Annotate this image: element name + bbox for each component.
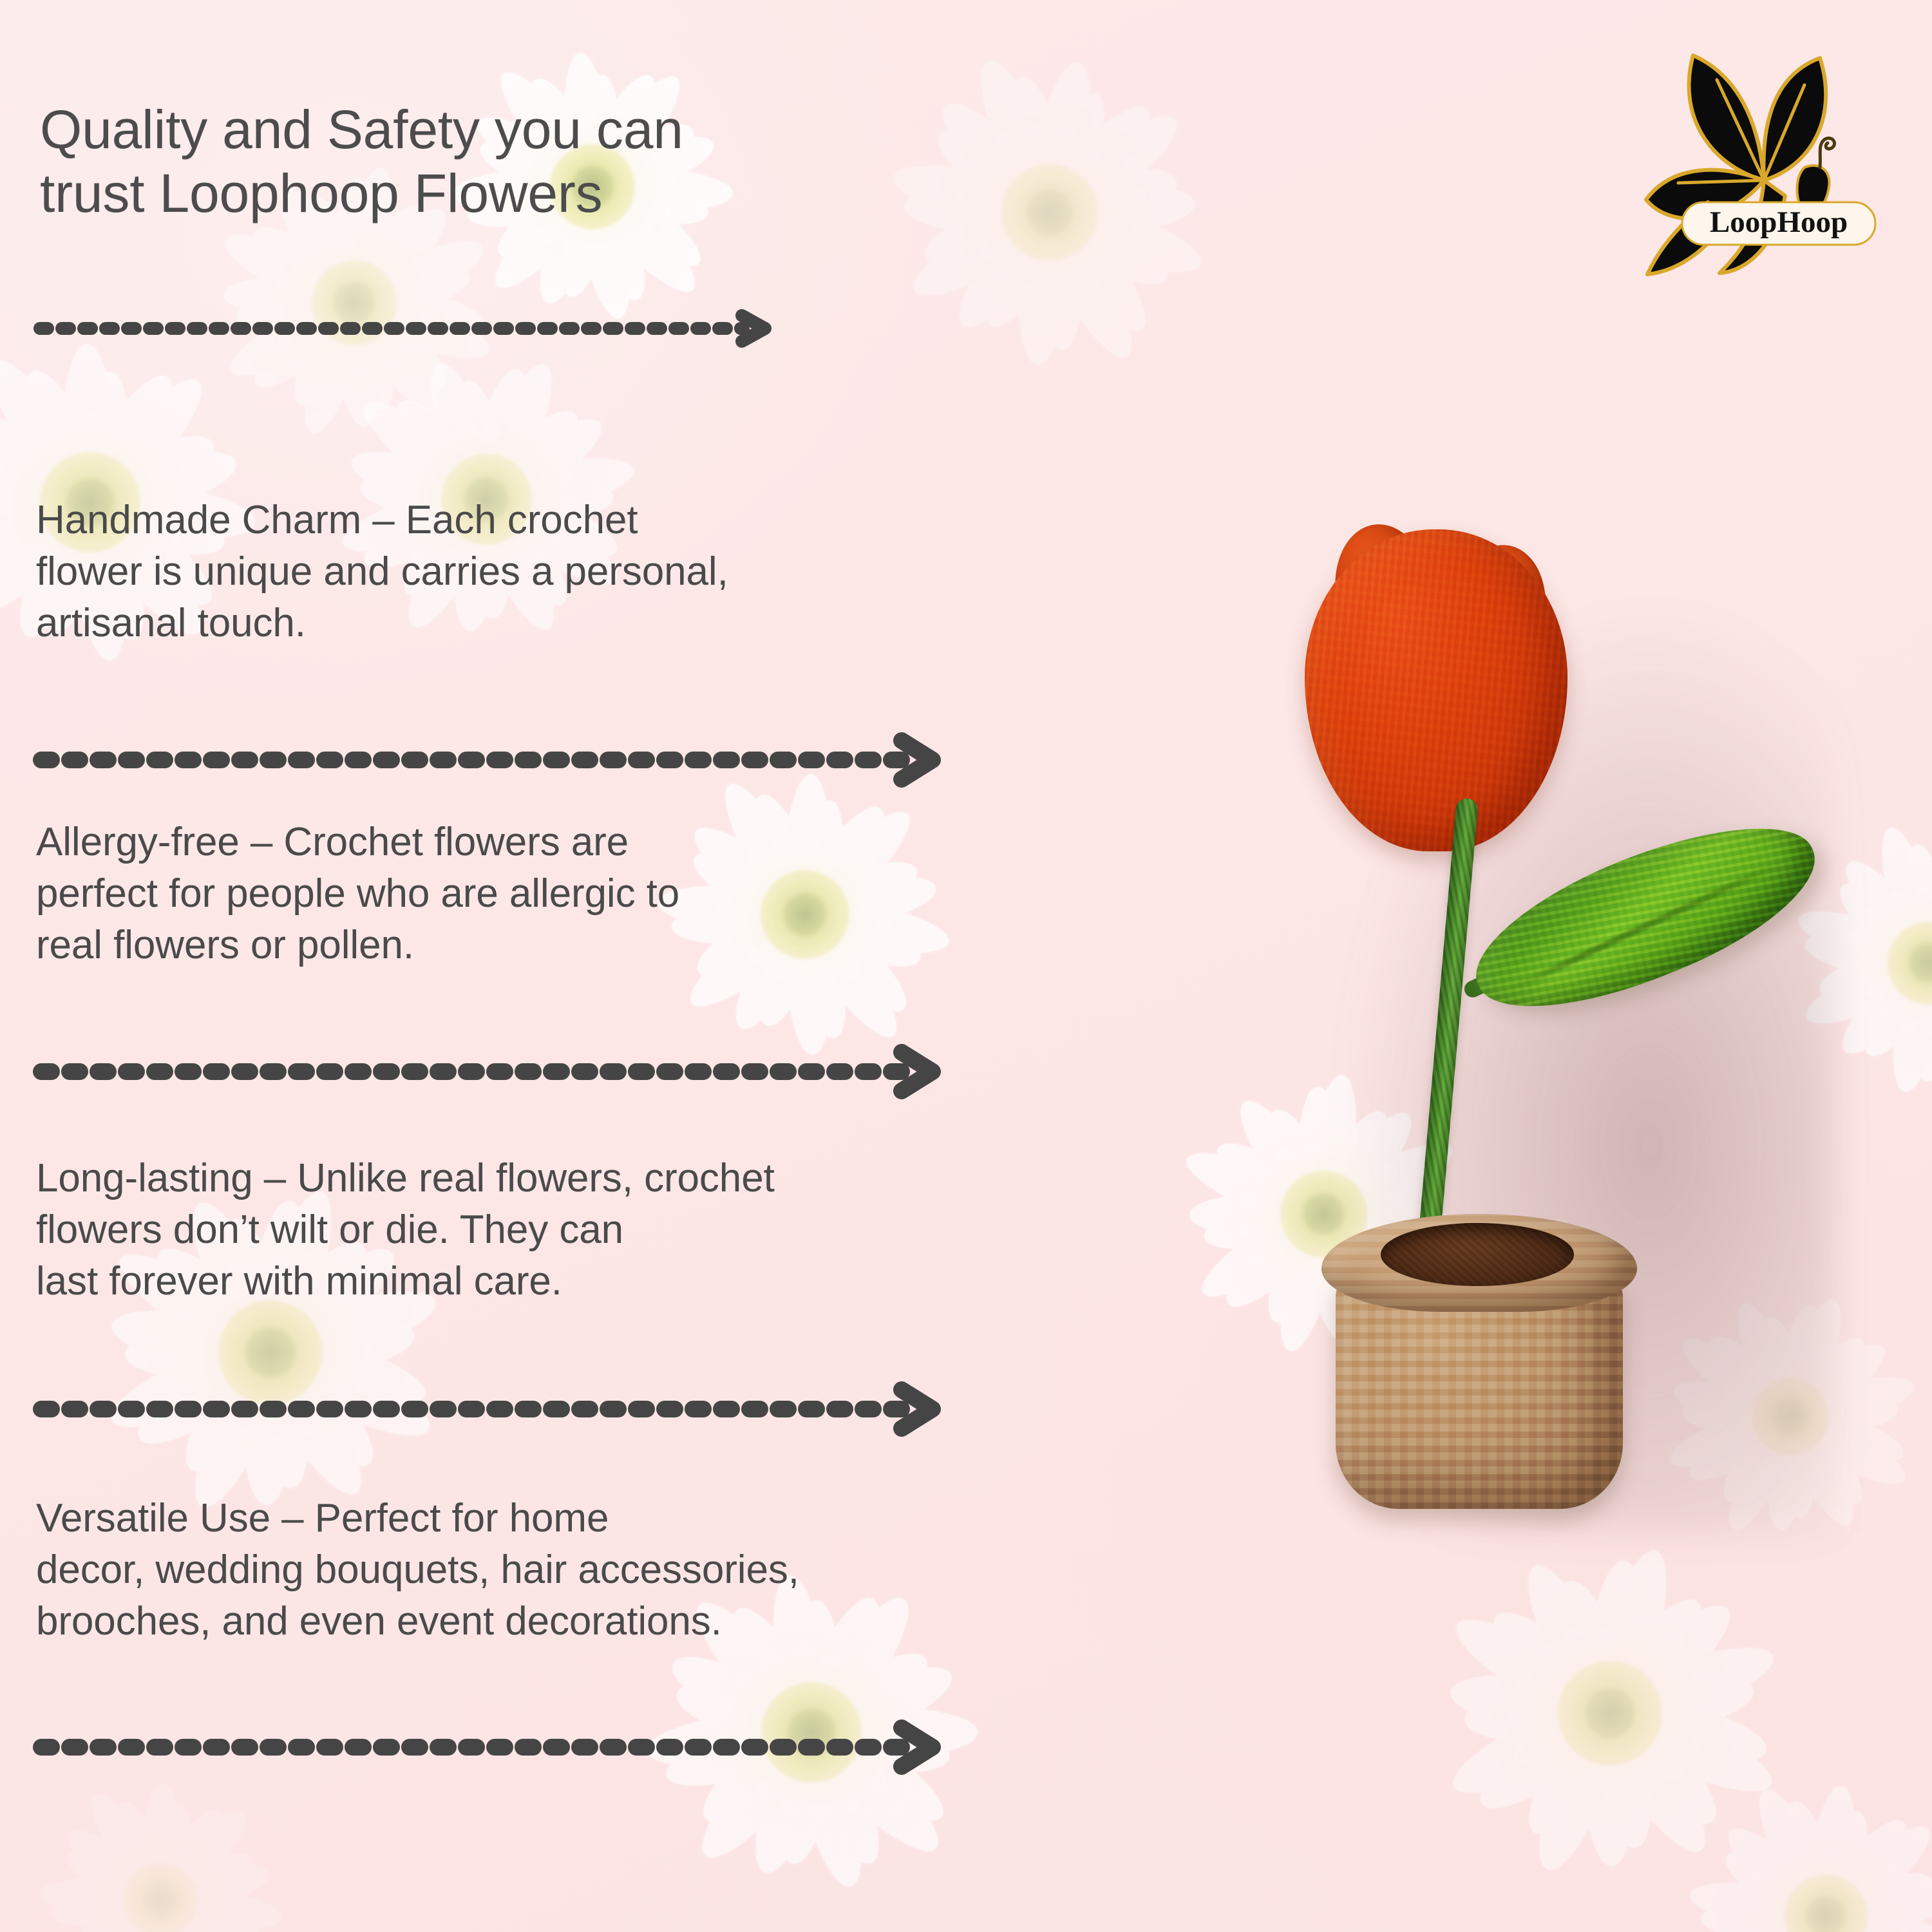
divider-versatile-use <box>36 1729 951 1755</box>
product-image-crochet-tulip <box>1249 496 1913 1604</box>
divider-allergy-free <box>36 1054 951 1079</box>
crochet-tulip-icon <box>1305 529 1567 851</box>
dashed-arrow-right-icon <box>36 1054 951 1090</box>
butterfly-leaf-logo-icon: LoopHoop <box>1632 18 1896 282</box>
pot-soil-texture <box>1381 1223 1574 1286</box>
brand-logo-wordmark: LoopHoop <box>1710 205 1848 239</box>
feature-handmade-charm: Handmade Charm – Each crochet flower is … <box>36 495 728 649</box>
divider-handmade-charm <box>36 742 951 768</box>
page-title: Quality and Safety you can trust Loophoo… <box>40 98 1006 225</box>
pot-rim <box>1321 1214 1637 1312</box>
dashed-arrow-right-icon <box>36 1391 951 1427</box>
pot-soil <box>1381 1223 1574 1286</box>
dashed-arrow-right-icon <box>36 1729 951 1765</box>
brand-logo[interactable]: LoopHoop <box>1632 18 1896 282</box>
feature-versatile-use: Versatile Use – Perfect for home decor, … <box>36 1493 799 1647</box>
dashed-arrow-right-icon <box>36 314 777 343</box>
divider-long-lasting <box>36 1391 951 1417</box>
divider-headline <box>36 314 777 339</box>
poster-canvas: LoopHoop Quality and Safety you can trus… <box>0 0 1932 1932</box>
tulip-bloom-body <box>1305 529 1567 851</box>
tulip-stitch-texture <box>1305 529 1567 851</box>
feature-allergy-free: Allergy-free – Crochet flowers are perfe… <box>36 817 679 971</box>
feature-long-lasting: Long-lasting – Unlike real flowers, croc… <box>36 1153 775 1307</box>
crochet-pot-icon <box>1321 1214 1637 1510</box>
dashed-arrow-right-icon <box>36 742 951 778</box>
